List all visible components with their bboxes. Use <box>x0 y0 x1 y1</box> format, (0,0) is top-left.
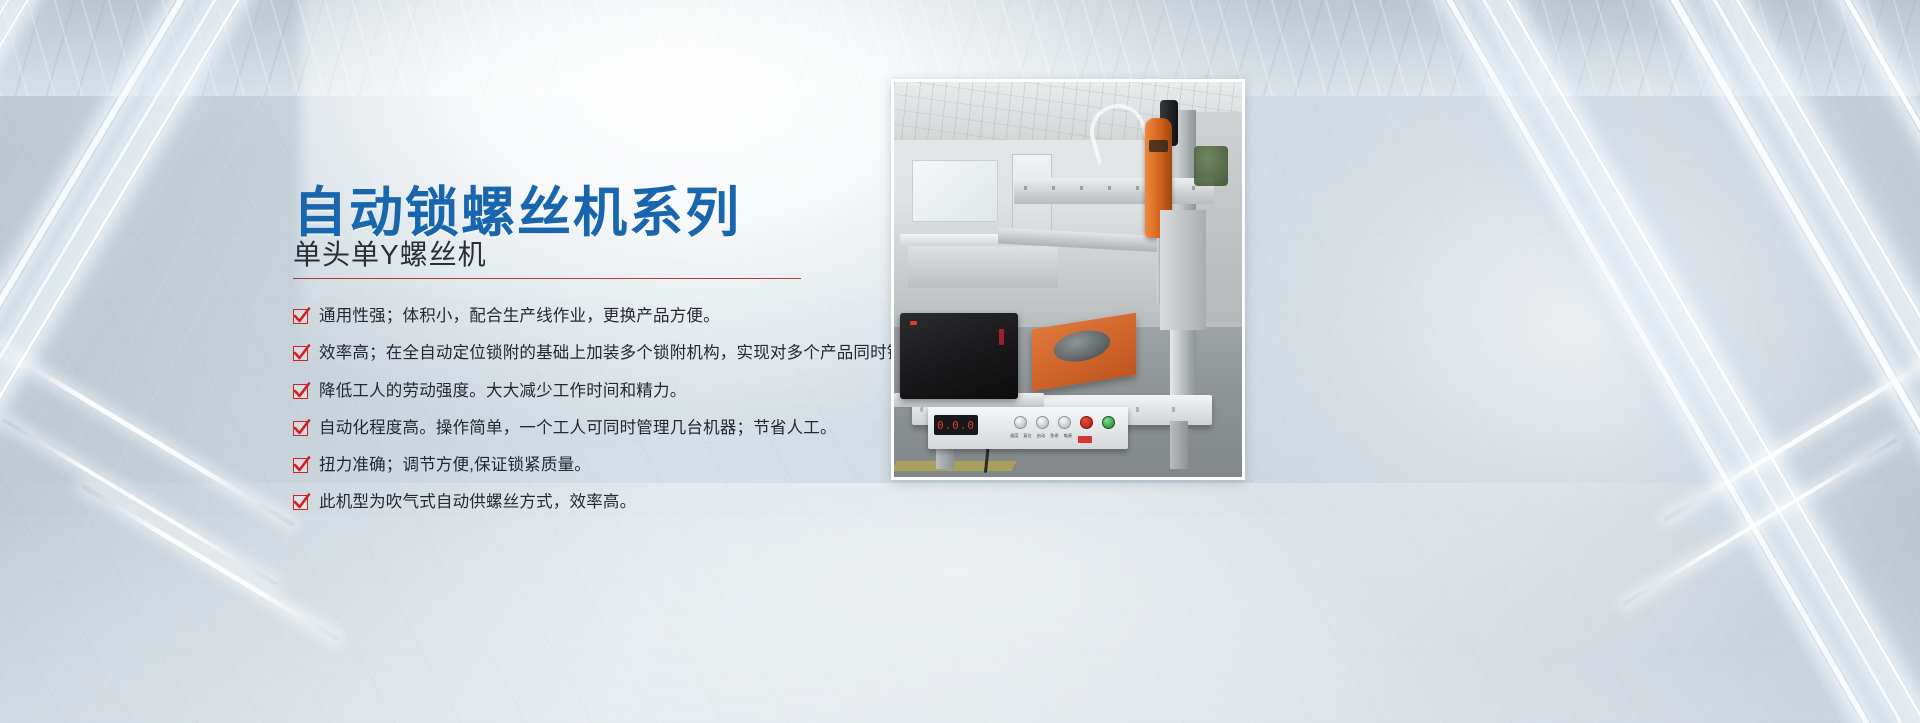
list-item: 自动化程度高。操作简单，一个工人可同时管理几台机器；节省人工。 <box>293 417 913 439</box>
product-photo: 0.0.0 速度 复位 启动 急停 电源 <box>891 79 1245 480</box>
knob-reset <box>1036 416 1049 429</box>
feature-list: 通用性强；体积小，配合生产线作业，更换产品方便。 效率高；在全自动定位锁附的基础… <box>293 305 913 529</box>
list-item: 此机型为吹气式自动供螺丝方式，效率高。 <box>293 491 913 513</box>
knob-emergency-stop <box>1080 416 1093 429</box>
page-subtitle: 单头单Y螺丝机 <box>293 233 487 273</box>
panel-label: 启动 <box>1037 433 1045 439</box>
checkmark-icon <box>293 495 308 510</box>
list-item-label: 降低工人的劳动强度。大大减少工作时间和精力。 <box>319 380 686 402</box>
panel-label: 急停 <box>1050 433 1058 439</box>
banner-content: 自动锁螺丝机系列 单头单Y螺丝机 通用性强；体积小，配合生产线作业，更换产品方便… <box>0 0 1920 723</box>
list-item-label: 扭力准确；调节方便,保证锁紧质量。 <box>319 454 591 476</box>
machine-control-panel: 0.0.0 速度 复位 启动 急停 电源 <box>928 407 1128 449</box>
panel-label: 速度 <box>1010 433 1018 439</box>
checkmark-icon <box>293 421 308 436</box>
knob-power <box>1102 416 1115 429</box>
list-item: 降低工人的劳动强度。大大减少工作时间和精力。 <box>293 380 913 402</box>
list-item-label: 此机型为吹气式自动供螺丝方式，效率高。 <box>319 491 636 513</box>
checkmark-icon <box>293 384 308 399</box>
checkmark-icon <box>293 309 308 324</box>
product-banner: 自动锁螺丝机系列 单头单Y螺丝机 通用性强；体积小，配合生产线作业，更换产品方便… <box>0 0 1920 723</box>
product-photo-image: 0.0.0 速度 复位 启动 急停 电源 <box>894 82 1242 477</box>
checkmark-icon <box>293 458 308 473</box>
panel-display: 0.0.0 <box>934 415 978 435</box>
knob-speed <box>1014 416 1027 429</box>
panel-label: 复位 <box>1023 433 1031 439</box>
knob-start <box>1058 416 1071 429</box>
checkmark-icon <box>293 346 308 361</box>
list-item: 效率高；在全自动定位锁附的基础上加装多个锁附机构，实现对多个产品同时锁附。 <box>293 342 913 364</box>
title-divider <box>293 278 801 279</box>
panel-red-button <box>1078 436 1092 443</box>
panel-labels: 速度 复位 启动 急停 电源 <box>1010 433 1072 439</box>
list-item-label: 通用性强；体积小，配合生产线作业，更换产品方便。 <box>319 305 720 327</box>
list-item: 通用性强；体积小，配合生产线作业，更换产品方便。 <box>293 305 913 327</box>
list-item-label: 效率高；在全自动定位锁附的基础上加装多个锁附机构，实现对多个产品同时锁附。 <box>319 342 937 364</box>
panel-knobs <box>1014 416 1115 429</box>
panel-label: 电源 <box>1064 433 1072 439</box>
list-item-label: 自动化程度高。操作简单，一个工人可同时管理几台机器；节省人工。 <box>319 417 837 439</box>
list-item: 扭力准确；调节方便,保证锁紧质量。 <box>293 454 913 476</box>
